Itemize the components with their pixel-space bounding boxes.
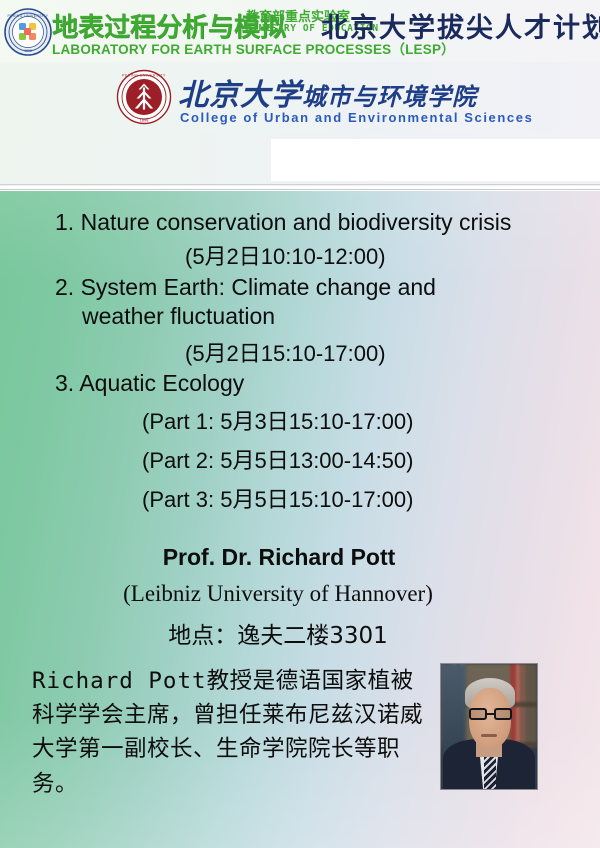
lecture-2-title: 2. System Earth: Climate change and [55,274,436,301]
portrait-mouth [481,734,496,737]
lecture-3-part-3: (Part 3: 5月5日15:10-17:00) [142,482,413,514]
lecture-2-number: 2. [55,274,74,300]
lecture-1-title: 1. Nature conservation and biodiversity … [55,209,511,236]
lecture-poster: PEKING UNIVERSITY 1898 地表过程分析与模拟 LABORAT… [0,0,600,848]
lecture-3-part-1: (Part 1: 5月3日15:10-17:00) [142,404,413,436]
program-title: 北京大学拔尖人才计划 [321,6,600,45]
portrait-glasses-left-lens [469,708,487,721]
header-divider-bottom [0,189,600,190]
university-name-en: College of Urban and Environmental Scien… [180,110,533,125]
lecture-3-number: 3. [55,370,74,396]
lecture-3-heading: Aquatic Ecology [79,370,244,396]
speaker-portrait-richard-pott [440,663,538,790]
peking-university-seal: PEKING UNIVERSITY 1898 [116,69,172,125]
svg-text:PEKING UNIVERSITY: PEKING UNIVERSITY [8,14,49,18]
lecture-1-time: (5月2日10:10-12:00) [185,239,386,271]
university-header-band: PEKING UNIVERSITY 1898 北京大学城市与环境学院 Colle… [0,62,600,134]
lecture-2-heading-line2: weather fluctuation [82,303,275,330]
university-name-cn-sub: 城市与环境学院 [302,82,477,111]
university-name-cn-main: 北京大学 [178,78,302,113]
speaker-bio: Richard Pott教授是德语国家植被科学学会主席，曾担任莱布尼兹汉诺威大学… [32,664,432,801]
lecture-2-time: (5月2日15:10-17:00) [185,336,386,368]
lecture-1-heading: Nature conservation and biodiversity cri… [81,209,512,235]
portrait-glasses [469,708,512,721]
lesp-circular-logo: PEKING UNIVERSITY 1898 [4,8,52,56]
lecture-3-title: 3. Aquatic Ecology [55,370,244,397]
venue-label: 地点：逸夫二楼3301 [0,616,600,650]
svg-text:PEKING UNIVERSITY: PEKING UNIVERSITY [122,74,166,78]
svg-text:1898: 1898 [24,49,32,53]
program-title-band [0,134,600,186]
speaker-affiliation: (Leibniz University of Hannover) [0,581,600,607]
program-title-backdrop [271,139,600,181]
university-name-cn: 北京大学城市与环境学院 [178,70,477,114]
header-divider-top [0,184,600,185]
lecture-2-heading-line1: System Earth: Climate change and [81,274,436,300]
svg-text:1898: 1898 [140,118,150,123]
lecture-1-number: 1. [55,209,74,235]
speaker-name: Prof. Dr. Richard Pott [0,544,600,571]
speaker-bio-latin-name: Richard Pott [32,668,207,694]
lecture-3-part-2: (Part 2: 5月5日13:00-14:50) [142,443,413,475]
portrait-glasses-right-lens [494,708,512,721]
portrait-glasses-bridge [487,713,494,715]
